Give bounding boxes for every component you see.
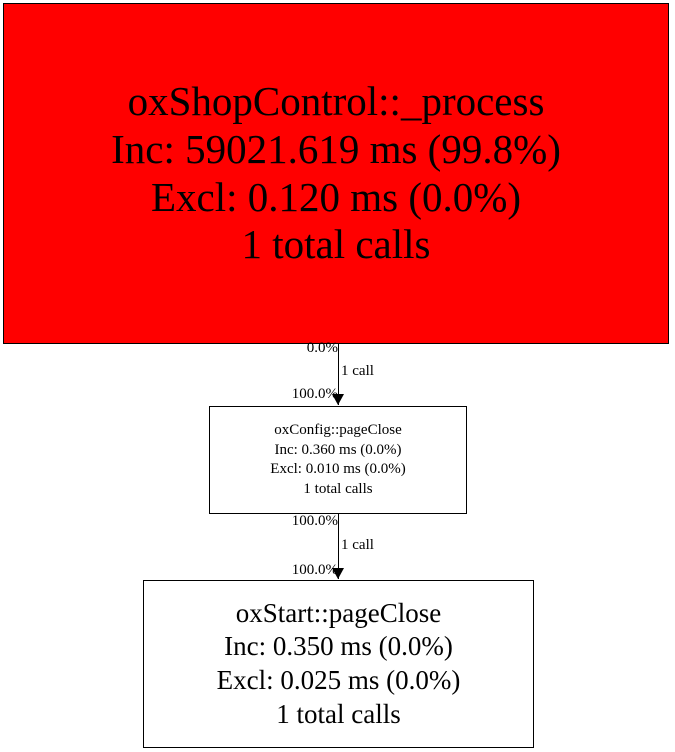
graph-node-oxstart-pageclose[interactable]: oxStart::pageClose Inc: 0.350 ms (0.0%) … [143, 580, 534, 748]
node-inclusive-time: Inc: 59021.619 ms (99.8%) [111, 126, 561, 174]
node-total-calls: 1 total calls [303, 480, 372, 500]
node-function-name: oxStart::pageClose [236, 597, 441, 631]
node-inclusive-time: Inc: 0.350 ms (0.0%) [224, 630, 453, 664]
edge-call-count-mid-to-leaf: 1 call [341, 538, 374, 553]
graph-node-oxconfig-pageclose[interactable]: oxConfig::pageClose Inc: 0.360 ms (0.0%)… [209, 406, 467, 514]
node-total-calls: 1 total calls [241, 221, 430, 269]
call-graph-canvas: oxShopControl::_process Inc: 59021.619 m… [0, 0, 675, 752]
node-total-calls: 1 total calls [276, 698, 400, 732]
edge-head-percent-root-to-mid: 100.0% [292, 387, 338, 402]
graph-node-oxshopcontrol-process[interactable]: oxShopControl::_process Inc: 59021.619 m… [3, 3, 669, 344]
node-function-name: oxConfig::pageClose [274, 421, 402, 441]
node-exclusive-time: Excl: 0.120 ms (0.0%) [151, 174, 521, 222]
node-inclusive-time: Inc: 0.360 ms (0.0%) [274, 441, 401, 461]
edge-call-count-root-to-mid: 1 call [341, 364, 374, 379]
node-exclusive-time: Excl: 0.010 ms (0.0%) [270, 460, 405, 480]
node-function-name: oxShopControl::_process [128, 78, 545, 126]
edge-tail-percent-root-to-mid: 0.0% [307, 341, 338, 356]
edge-tail-percent-mid-to-leaf: 100.0% [292, 514, 338, 529]
edge-head-percent-mid-to-leaf: 100.0% [292, 563, 338, 578]
node-exclusive-time: Excl: 0.025 ms (0.0%) [217, 664, 461, 698]
